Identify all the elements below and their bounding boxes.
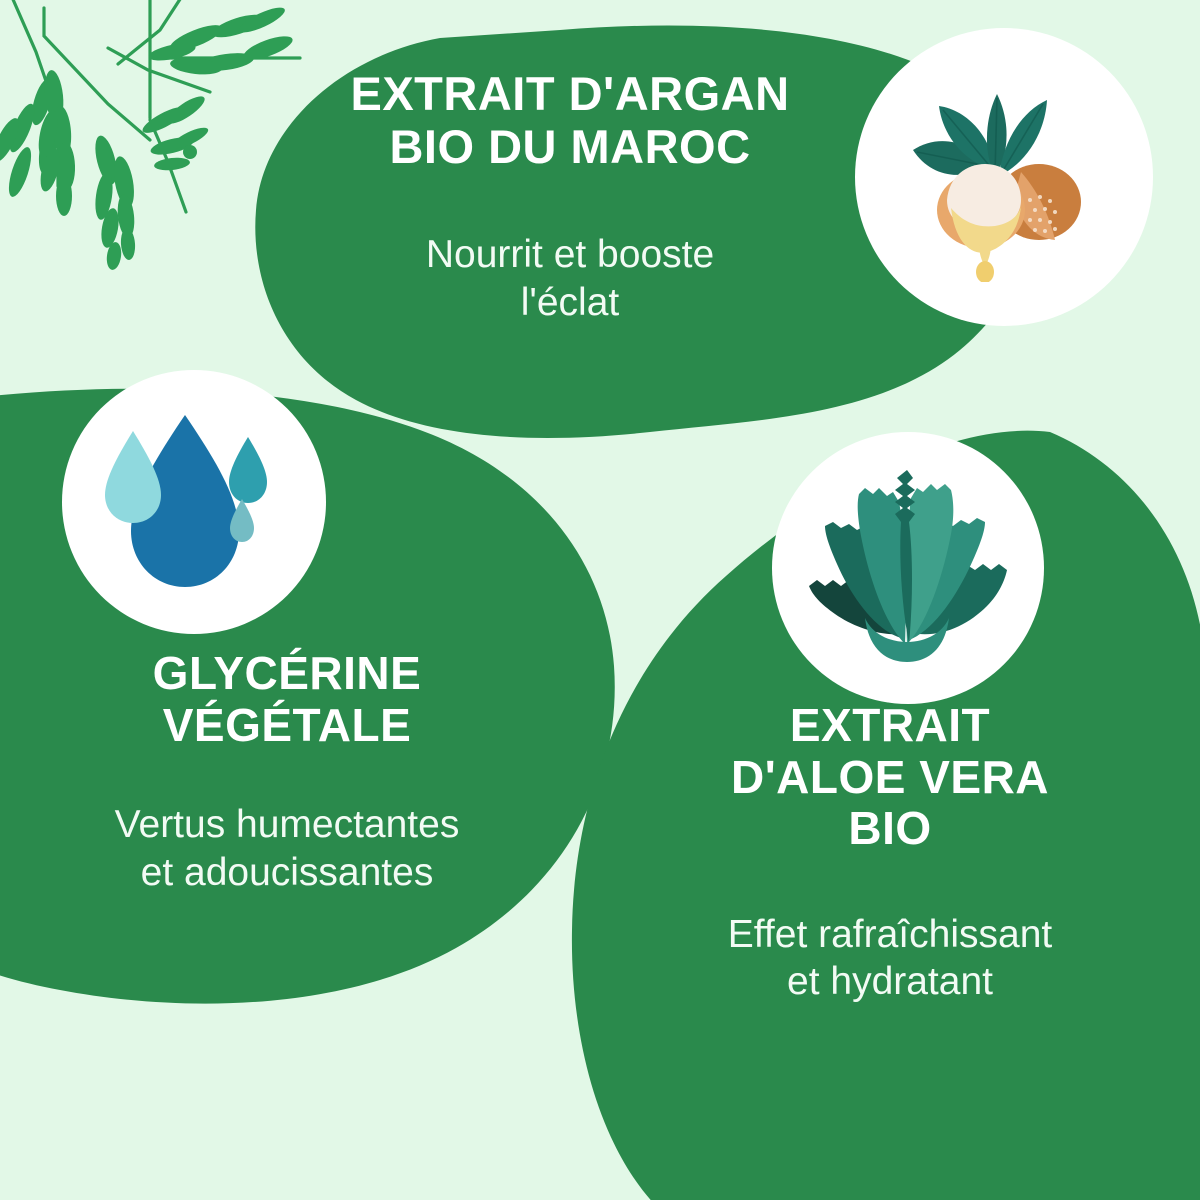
water-drop-pale bbox=[105, 431, 161, 523]
title-line: BIO DU MAROC bbox=[389, 120, 750, 173]
argan-oil-drop bbox=[976, 261, 994, 282]
medallion-glycerine bbox=[62, 370, 326, 634]
ingredient-title-aloe: EXTRAIT D'ALOE VERA BIO bbox=[650, 700, 1130, 855]
subtitle-line: l'éclat bbox=[521, 281, 620, 324]
ingredient-block-glycerine: GLYCÉRINE VÉGÉTALE Vertus humectantes et… bbox=[52, 648, 522, 896]
subtitle-line: Vertus humectantes bbox=[115, 803, 460, 846]
title-line: BIO bbox=[848, 802, 931, 854]
medallion-argan bbox=[855, 28, 1153, 326]
subtitle-line: et hydratant bbox=[787, 960, 993, 1003]
title-line: EXTRAIT bbox=[790, 699, 990, 751]
title-line: GLYCÉRINE bbox=[153, 647, 422, 699]
ingredient-subtitle-glycerine: Vertus humectantes et adoucissantes bbox=[52, 801, 522, 896]
ingredient-infographic: EXTRAIT D'ARGAN BIO DU MAROC Nourrit et … bbox=[0, 0, 1200, 1200]
title-line: EXTRAIT D'ARGAN bbox=[350, 67, 789, 120]
ingredient-subtitle-argan: Nourrit et booste l'éclat bbox=[300, 231, 840, 326]
ingredient-title-glycerine: GLYCÉRINE VÉGÉTALE bbox=[52, 648, 522, 751]
water-drop-icon bbox=[99, 407, 289, 597]
ingredient-subtitle-aloe: Effet rafraîchissant et hydratant bbox=[650, 911, 1130, 1006]
ingredient-block-aloe: EXTRAIT D'ALOE VERA BIO Effet rafraîchis… bbox=[650, 700, 1130, 1006]
medallion-aloe bbox=[772, 432, 1044, 704]
water-drop-teal bbox=[229, 437, 267, 503]
subtitle-line: Effet rafraîchissant bbox=[728, 913, 1052, 956]
subtitle-line: Nourrit et booste bbox=[426, 233, 714, 276]
title-line: VÉGÉTALE bbox=[163, 699, 412, 751]
subtitle-line: et adoucissantes bbox=[141, 851, 434, 894]
ingredient-title-argan: EXTRAIT D'ARGAN BIO DU MAROC bbox=[300, 68, 840, 173]
aloe-vera-icon bbox=[803, 468, 1013, 668]
title-line: D'ALOE VERA bbox=[731, 751, 1049, 803]
argan-nut-icon bbox=[899, 72, 1109, 282]
ingredient-block-argan: EXTRAIT D'ARGAN BIO DU MAROC Nourrit et … bbox=[300, 68, 840, 326]
